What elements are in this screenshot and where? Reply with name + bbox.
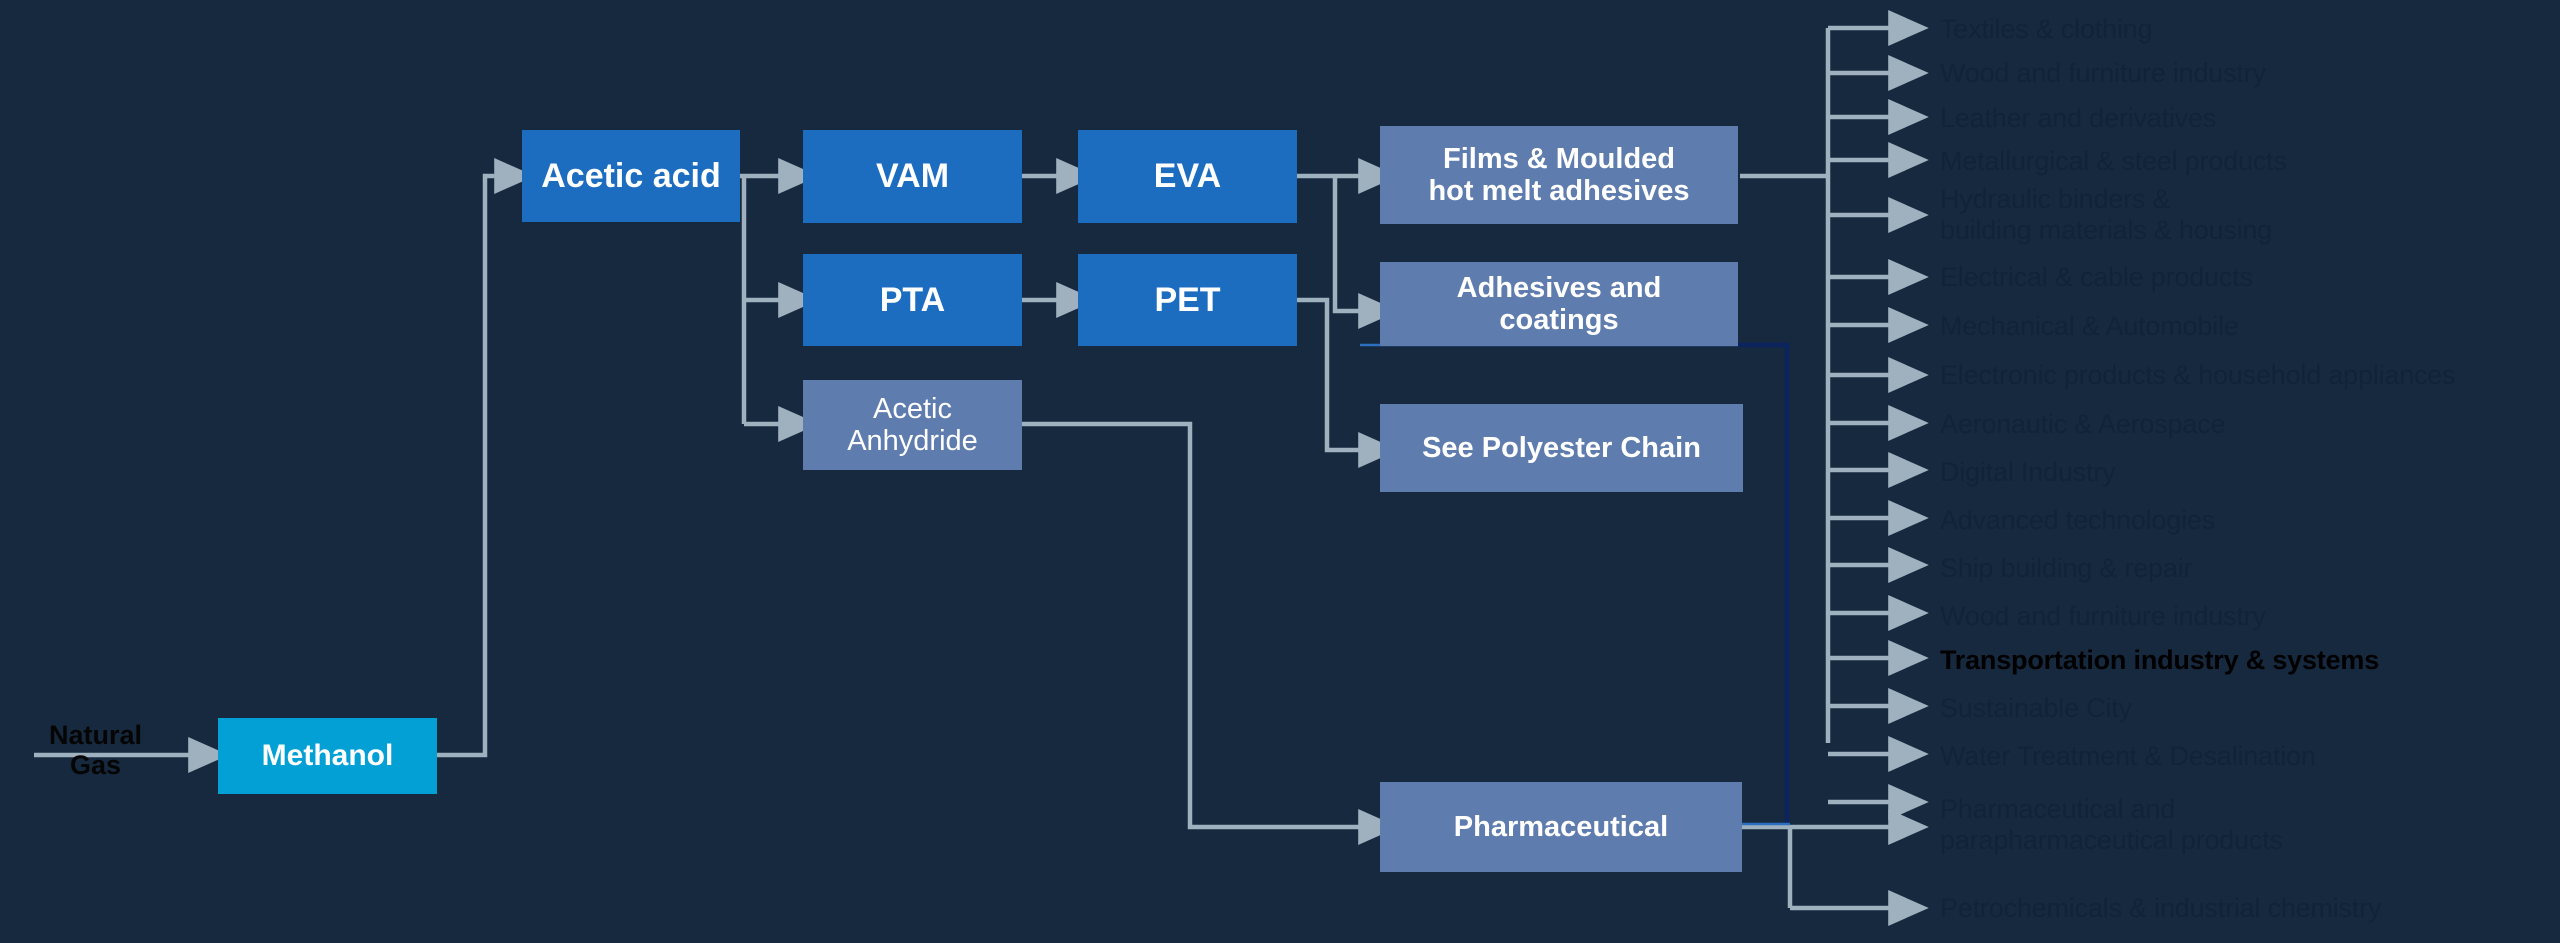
node-vam[interactable]: VAM [803, 130, 1022, 223]
node-eva[interactable]: EVA [1078, 130, 1297, 223]
node-acetic-anhydride[interactable]: Acetic Anhydride [803, 380, 1022, 470]
end-application-advanced-technologies: Advanced technologies [1940, 505, 2215, 536]
end-application-pharmaceutical-parapharmaceutical: Pharmaceutical and parapharmaceutical pr… [1940, 794, 2283, 856]
diagram-canvas: Natural Gas Methanol Acetic acid VAM EVA… [0, 0, 2560, 943]
end-application-metallurgical-steel-products: Metallurgical & steel products [1940, 146, 2287, 177]
feedstock-label: Natural Gas [38, 720, 153, 780]
end-application-wood-furniture-industry-2: Wood and furniture industry [1940, 601, 2266, 632]
end-application-textiles-clothing: Textiles & clothing [1940, 14, 2152, 45]
end-application-electrical-cable-products: Electrical & cable products [1940, 262, 2253, 293]
end-application-water-treatment-desalination: Water Treatment & Desalination [1940, 741, 2316, 772]
node-films-moulded[interactable]: Films & Moulded hot melt adhesives [1380, 126, 1738, 224]
wire-eva-to-adhesives [1335, 176, 1360, 311]
end-application-leather-derivatives: Leather and derivatives [1940, 103, 2216, 134]
wire-anhydride-to-pharma [1022, 424, 1360, 827]
end-application-aeronautic-aerospace: Aeronautic & Aerospace [1940, 409, 2225, 440]
node-pharmaceutical[interactable]: Pharmaceutical [1380, 782, 1742, 872]
wire-methanol-to-acetic-acid [437, 176, 496, 755]
node-see-polyester-chain[interactable]: See Polyester Chain [1380, 404, 1743, 492]
node-acetic-acid[interactable]: Acetic acid [522, 130, 740, 222]
node-methanol[interactable]: Methanol [218, 718, 437, 794]
end-application-sustainable-city: Sustainable City [1940, 693, 2132, 724]
node-pta[interactable]: PTA [803, 254, 1022, 346]
end-application-petrochemicals-industrial-chemistry: Petrochemicals & industrial chemistry [1940, 893, 2381, 924]
wire-pet-to-polyester [1297, 300, 1360, 450]
end-application-ship-building-repair: Ship building & repair [1940, 553, 2192, 584]
end-application-electronic-products-household-appliances: Electronic products & household applianc… [1940, 360, 2455, 391]
end-application-hydraulic-binders-building-materials: Hydraulic binders & building materials &… [1940, 184, 2272, 246]
end-application-digital-industry: Digital Industry [1940, 457, 2115, 488]
end-application-transportation-industry-systems: Transportation industry & systems [1940, 645, 2379, 676]
wire-adhesives-highlight [1738, 345, 1787, 824]
node-pet[interactable]: PET [1078, 254, 1297, 346]
node-adhesives-coatings[interactable]: Adhesives and coatings [1380, 262, 1738, 346]
end-application-wood-furniture-industry: Wood and furniture industry [1940, 58, 2266, 89]
end-application-mechanical-automobile: Mechanical & Automobile [1940, 311, 2239, 342]
